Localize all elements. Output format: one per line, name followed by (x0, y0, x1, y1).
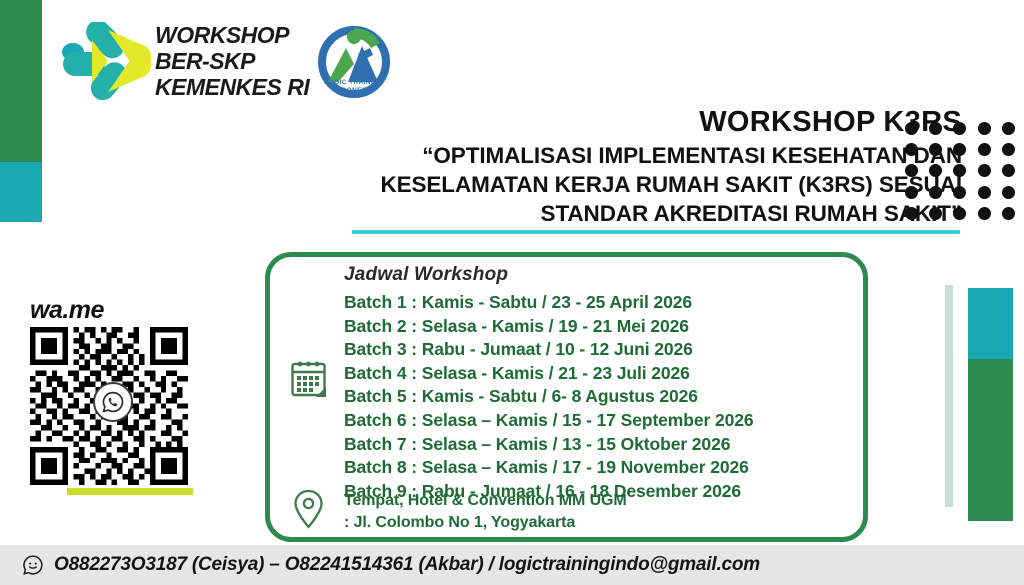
grid-dot (1002, 164, 1015, 177)
list-item: Batch 6 : Selasa – Kamis / 15 - 17 Septe… (344, 409, 754, 433)
kemenkes-logo-line-2: BER-SKP (155, 48, 309, 74)
kemenkes-logo-text: WORKSHOP BER-SKP KEMENKES RI (155, 22, 309, 100)
list-item: Batch 3 : Rabu - Jumaat / 10 - 12 Juni 2… (344, 338, 754, 362)
left-accent-bar-green (0, 0, 42, 162)
calendar-icon (291, 359, 326, 397)
page-title: WORKSHOP K3RS (262, 106, 962, 138)
list-item: Batch 2 : Selasa - Kamis / 19 - 21 Mei 2… (344, 315, 754, 339)
logic-training-logo-text: LOGIC TRAINING INDONESIA (308, 79, 400, 95)
logic-logo-line-1: LOGIC TRAINING (308, 79, 400, 87)
page-subtitle-line-2: KESELAMATAN KERJA RUMAH SAKIT (K3RS) SES… (262, 170, 962, 199)
page-subtitle-line-3: STANDAR AKREDITASI RUMAH SAKIT” (262, 199, 962, 228)
whatsapp-icon (22, 554, 44, 576)
right-accent-bar-teal (968, 288, 1013, 359)
grid-dot (978, 207, 991, 220)
batch-list: Batch 1 : Kamis - Sabtu / 23 - 25 April … (344, 291, 754, 503)
kemenkes-logo-line-1: WORKSHOP (155, 22, 309, 48)
grid-dot (1002, 207, 1015, 220)
left-accent-bar-teal (0, 162, 42, 222)
grid-dot (978, 186, 991, 199)
right-accent-bar-green (968, 359, 1013, 521)
kemenkes-logo (62, 22, 152, 100)
yellow-accent-rule (67, 488, 193, 495)
list-item: Batch 7 : Selasa – Kamis / 13 - 15 Oktob… (344, 433, 754, 457)
schedule-heading: Jadwal Workshop (344, 264, 508, 286)
contact-footer: O882273O3187 (Ceisya) – O82241514361 (Ak… (0, 545, 1024, 585)
contact-text: O882273O3187 (Ceisya) – O82241514361 (Ak… (54, 554, 760, 576)
page-subtitle-line-1: “OPTIMALISASI IMPLEMENTASI KESEHATAN DAN (262, 141, 962, 170)
whatsapp-icon (93, 382, 133, 422)
kemenkes-logo-line-3: KEMENKES RI (155, 74, 309, 100)
grid-dot (978, 164, 991, 177)
logic-logo-line-2: INDONESIA (308, 87, 400, 95)
title-divider-rule (352, 230, 960, 234)
location-pin-icon (293, 489, 324, 529)
grid-dot (978, 143, 991, 156)
grid-dot (1002, 186, 1015, 199)
venue-block: Tempat, Hotel & Convention MM UGM : Jl. … (344, 490, 627, 534)
grid-dot (1002, 122, 1015, 135)
wa-me-label: wa.me (30, 296, 104, 325)
list-item: Batch 4 : Selasa - Kamis / 21 - 23 Juli … (344, 362, 754, 386)
venue-line-1: Tempat, Hotel & Convention MM UGM (344, 490, 627, 512)
grid-dot (1002, 143, 1015, 156)
right-thin-accent-bar (945, 285, 953, 507)
list-item: Batch 5 : Kamis - Sabtu / 6- 8 Agustus 2… (344, 385, 754, 409)
list-item: Batch 1 : Kamis - Sabtu / 23 - 25 April … (344, 291, 754, 315)
workshop-title-block: WORKSHOP K3RS “OPTIMALISASI IMPLEMENTASI… (262, 106, 962, 228)
list-item: Batch 8 : Selasa – Kamis / 17 - 19 Novem… (344, 456, 754, 480)
grid-dot (978, 122, 991, 135)
venue-line-2: : Jl. Colombo No 1, Yogyakarta (344, 512, 627, 534)
